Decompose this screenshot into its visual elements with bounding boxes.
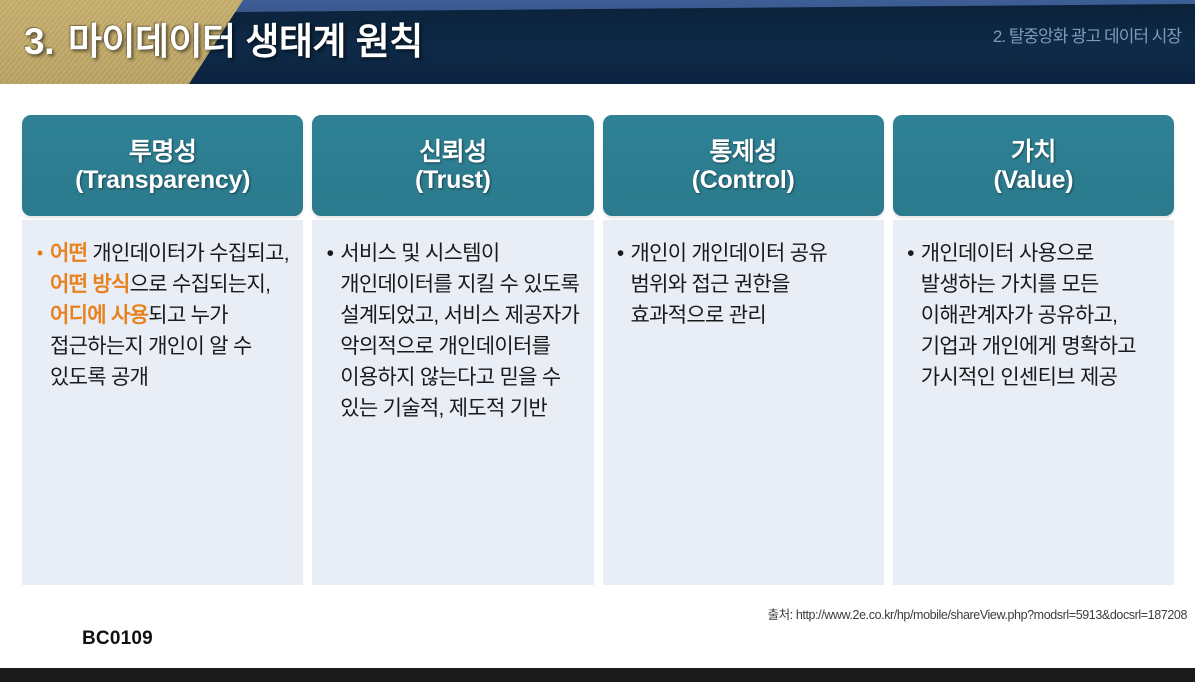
list-item: • 어떤 개인데이터가 수집되고, 어떤 방식으로 수집되는지, 어디에 사용되…: [30, 238, 293, 393]
header-divider: [0, 84, 1195, 87]
slide-code: BC0109: [82, 628, 153, 650]
column-title-kr: 신뢰성: [419, 138, 487, 166]
column-body-value: • 개인데이터 사용으로 발생하는 가치를 모든 이해관계자가 공유하고, 기업…: [893, 220, 1174, 585]
bullet-marker-icon: •: [320, 238, 340, 269]
column-title-en: (Control): [692, 166, 795, 194]
list-item: • 개인이 개인데이터 공유 범위와 접근 권한을 효과적으로 관리: [611, 238, 874, 331]
column-header-value: 가치 (Value): [893, 115, 1174, 216]
column-body-text: 개인이 개인데이터 공유 범위와 접근 권한을 효과적으로 관리: [631, 238, 874, 331]
breadcrumb: 2. 탈중앙화 광고 데이터 시장: [993, 22, 1181, 47]
column-title-en: (Trust): [415, 166, 491, 194]
source-citation: 출처: http://www.2e.co.kr/hp/mobile/shareV…: [767, 604, 1187, 623]
section-title-text: 마이데이터 생태계 원칙: [68, 21, 423, 62]
column-body-text: 개인데이터 사용으로 발생하는 가치를 모든 이해관계자가 공유하고, 기업과 …: [921, 238, 1164, 393]
bottom-black-bar: [0, 668, 1195, 682]
column-title-kr: 투명성: [129, 138, 197, 166]
principles-columns: 투명성 (Transparency) • 어떤 개인데이터가 수집되고, 어떤 …: [22, 115, 1174, 585]
column-body-text: 어떤 개인데이터가 수집되고, 어떤 방식으로 수집되는지, 어디에 사용되고 …: [50, 238, 293, 393]
list-item: • 개인데이터 사용으로 발생하는 가치를 모든 이해관계자가 공유하고, 기업…: [901, 238, 1164, 393]
column-title-en: (Transparency): [75, 166, 250, 194]
column-title-en: (Value): [993, 166, 1073, 194]
principle-column-value: 가치 (Value) • 개인데이터 사용으로 발생하는 가치를 모든 이해관계…: [893, 115, 1174, 585]
principle-column-trust: 신뢰성 (Trust) • 서비스 및 시스템이 개인데이터를 지킬 수 있도록…: [312, 115, 593, 585]
column-title-kr: 통제성: [709, 138, 777, 166]
bullet-marker-icon: •: [30, 238, 50, 269]
bullet-marker-icon: •: [611, 238, 631, 269]
bullet-marker-icon: •: [901, 238, 921, 269]
column-body-control: • 개인이 개인데이터 공유 범위와 접근 권한을 효과적으로 관리: [603, 220, 884, 585]
column-body-text: 서비스 및 시스템이 개인데이터를 지킬 수 있도록 설계되었고, 서비스 제공…: [340, 238, 583, 424]
column-header-transparency: 투명성 (Transparency): [22, 115, 303, 216]
list-item: • 서비스 및 시스템이 개인데이터를 지킬 수 있도록 설계되었고, 서비스 …: [320, 238, 583, 424]
column-body-trust: • 서비스 및 시스템이 개인데이터를 지킬 수 있도록 설계되었고, 서비스 …: [312, 220, 593, 585]
column-header-trust: 신뢰성 (Trust): [312, 115, 593, 216]
principle-column-control: 통제성 (Control) • 개인이 개인데이터 공유 범위와 접근 권한을 …: [603, 115, 884, 585]
slide-header: 3.마이데이터 생태계 원칙 2. 탈중앙화 광고 데이터 시장: [0, 0, 1195, 84]
principle-column-transparency: 투명성 (Transparency) • 어떤 개인데이터가 수집되고, 어떤 …: [22, 115, 303, 585]
page-title: 3.마이데이터 생태계 원칙: [24, 11, 423, 65]
section-number: 3.: [24, 21, 54, 62]
column-body-transparency: • 어떤 개인데이터가 수집되고, 어떤 방식으로 수집되는지, 어디에 사용되…: [22, 220, 303, 585]
column-header-control: 통제성 (Control): [603, 115, 884, 216]
column-title-kr: 가치: [1011, 138, 1056, 166]
